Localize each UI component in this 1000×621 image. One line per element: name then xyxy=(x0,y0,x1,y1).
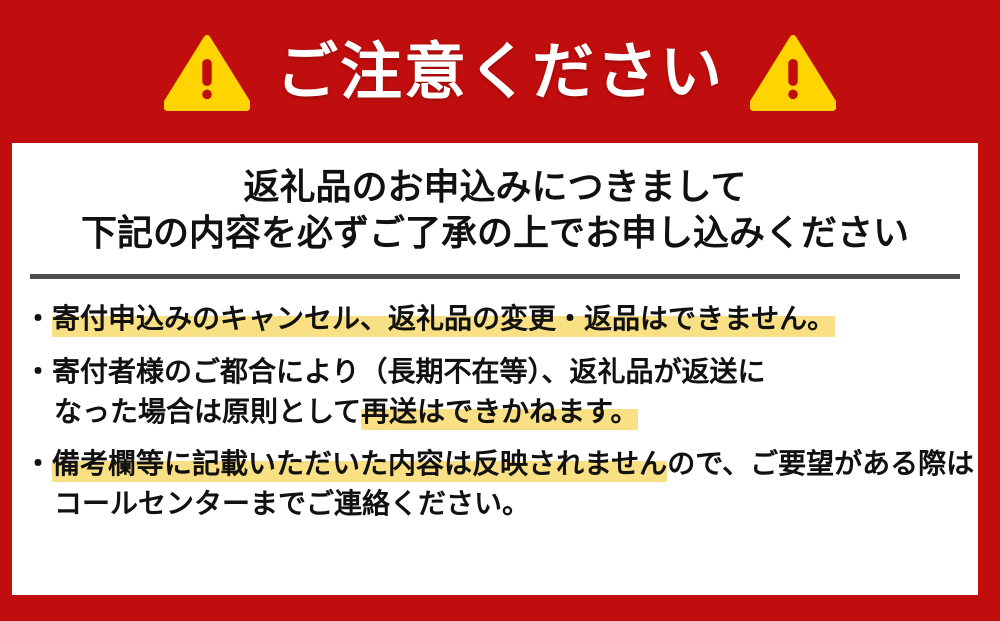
header-title: ご注意ください xyxy=(276,41,724,103)
heading-line-2: 下記の内容を必ずご了承の上でお申し込みください xyxy=(12,211,978,257)
heading-line-1: 返礼品のお申込みにつきまして xyxy=(12,165,978,211)
bullet-list: ・寄付申込みのキャンセル、返礼品の変更・返品はできません。・寄付者様のご都合によ… xyxy=(12,279,978,524)
bullet-line: なった場合は原則として再送はできかねます。 xyxy=(24,392,978,432)
warning-triangle-icon-left xyxy=(164,33,250,111)
bullet-line: ・寄付者様のご都合により（長期不在等）、返礼品が返送に xyxy=(24,352,978,392)
list-item: ・寄付者様のご都合により（長期不在等）、返礼品が返送になった場合は原則として再送… xyxy=(24,352,978,432)
notice-body: 返礼品のお申込みにつきまして 下記の内容を必ずご了承の上でお申し込みください ・… xyxy=(12,143,978,595)
bullet-text: なった場合は原則として xyxy=(54,395,361,428)
bullet-marker: ・ xyxy=(24,352,52,392)
notice-header: ご注意ください xyxy=(0,0,1000,143)
highlighted-text: 寄付申込みのキャンセル、返礼品の変更・返品はできません。 xyxy=(52,302,835,337)
list-item: ・寄付申込みのキャンセル、返礼品の変更・返品はできません。 xyxy=(24,299,978,339)
highlighted-text: 備考欄等に記載いただいた内容は反映されません xyxy=(52,447,667,482)
highlighted-text: 再送はできかねます。 xyxy=(361,395,638,430)
heading-block: 返礼品のお申込みにつきまして 下記の内容を必ずご了承の上でお申し込みください xyxy=(12,143,978,257)
bullet-marker: ・ xyxy=(24,444,52,484)
bullet-text: コールセンターまでご連絡ください。 xyxy=(54,487,530,520)
bullet-marker: ・ xyxy=(24,299,52,339)
bullet-line: コールセンターまでご連絡ください。 xyxy=(24,484,978,524)
notice-card: ご注意ください 返礼品のお申込みにつきまして 下記の内容を必ずご了承の上でお申し… xyxy=(0,0,1000,621)
list-item: ・備考欄等に記載いただいた内容は反映されませんので、ご要望がある際はコールセンタ… xyxy=(24,444,978,524)
bullet-line: ・寄付申込みのキャンセル、返礼品の変更・返品はできません。 xyxy=(24,299,978,339)
warning-triangle-icon-right xyxy=(750,33,836,111)
bullet-text: ので、ご要望がある際は xyxy=(667,447,974,480)
bullet-text: 寄付者様のご都合により（長期不在等）、返礼品が返送に xyxy=(52,355,765,388)
bullet-line: ・備考欄等に記載いただいた内容は反映されませんので、ご要望がある際は xyxy=(24,444,978,484)
